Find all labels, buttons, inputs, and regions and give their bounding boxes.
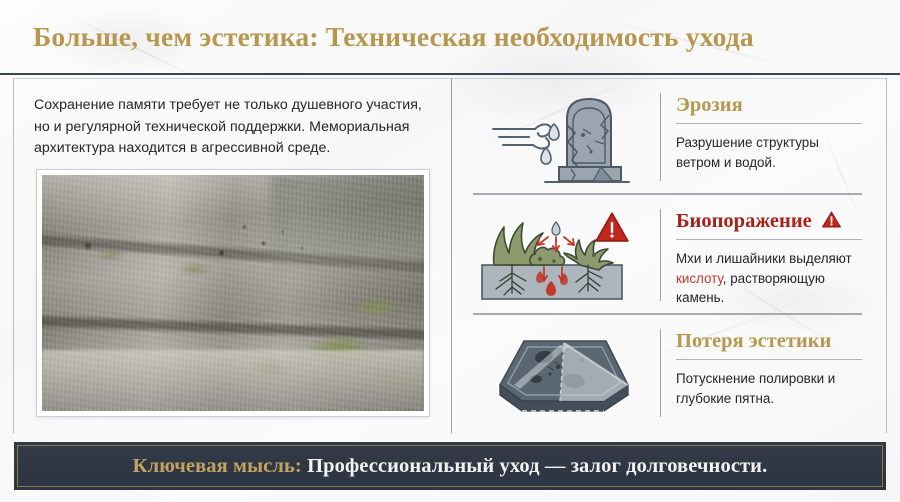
page-title: Больше, чем эстетика: Техническая необхо…: [33, 20, 880, 54]
weathered-stone-photo: [42, 175, 424, 411]
slide-header: Больше, чем эстетика: Техническая необхо…: [0, 0, 900, 73]
key-message-label: Ключевая мысль:: [133, 455, 302, 477]
dull-stained-slab-icon: [468, 315, 648, 431]
left-column: Сохранение памяти требует не только душе…: [14, 79, 451, 432]
key-message-text: Ключевая мысль: Профессиональный уход — …: [133, 455, 768, 478]
key-message-body: Профессиональный уход — залог долговечно…: [302, 455, 767, 477]
eroded-gravestone-icon: [468, 79, 648, 195]
panel-title-aesthetic-loss: Потеря эстетики: [676, 329, 831, 353]
panel-desc-erosion: Разрушение структуры ветром и водой.: [676, 133, 862, 172]
slide-root: Больше, чем эстетика: Техническая необхо…: [0, 0, 900, 502]
panel-aesthetic-loss[interactable]: Потеря эстетики Потускнение полировки и …: [452, 315, 886, 431]
photo-step-edge: [42, 350, 424, 411]
panel-title-underline: [676, 123, 862, 124]
panel-bio-damage[interactable]: Биопоражение Мхи и лишайники выделяют ки…: [452, 195, 886, 315]
right-column: Эрозия Разрушение структуры ветром и вод…: [452, 79, 886, 432]
moss-lichen-acid-roots-icon: [468, 195, 648, 315]
panel-icon-text-divider: [660, 93, 661, 181]
desc-part-before: Мхи и лишайники выделяют: [676, 251, 852, 266]
desc-highlight-acid: кислоту: [676, 271, 723, 286]
header-divider: [0, 73, 900, 75]
panel-desc-bio-damage: Мхи и лишайники выделяют кислоту, раство…: [676, 249, 862, 308]
warning-triangle-icon: [822, 210, 841, 234]
intro-paragraph: Сохранение памяти требует не только душе…: [34, 95, 432, 160]
key-message-bar: Ключевая мысль: Профессиональный уход — …: [14, 442, 886, 490]
panel-title-underline: [676, 239, 862, 240]
panel-title-bio-damage: Биопоражение: [676, 209, 841, 234]
photo-frame: [36, 169, 430, 417]
key-message-inner: Ключевая мысль: Профессиональный уход — …: [17, 445, 883, 487]
panel-icon-text-divider: [660, 209, 661, 301]
panel-title-underline: [676, 359, 862, 360]
panel-erosion[interactable]: Эрозия Разрушение структуры ветром и вод…: [452, 79, 886, 195]
panel-title-bio-damage-label: Биопоражение: [676, 210, 812, 232]
content-frame-right: [886, 78, 887, 433]
photo-bokeh-region: [271, 175, 424, 274]
panel-bio-damage-text: Биопоражение Мхи и лишайники выделяют ки…: [676, 195, 862, 315]
panel-erosion-text: Эрозия Разрушение структуры ветром и вод…: [676, 79, 862, 195]
panel-title-erosion: Эрозия: [676, 93, 743, 117]
panel-desc-aesthetic-loss: Потускнение полировки и глубокие пятна.: [676, 369, 862, 408]
panel-icon-text-divider: [660, 329, 661, 417]
panel-aesthetic-loss-text: Потеря эстетики Потускнение полировки и …: [676, 315, 862, 431]
